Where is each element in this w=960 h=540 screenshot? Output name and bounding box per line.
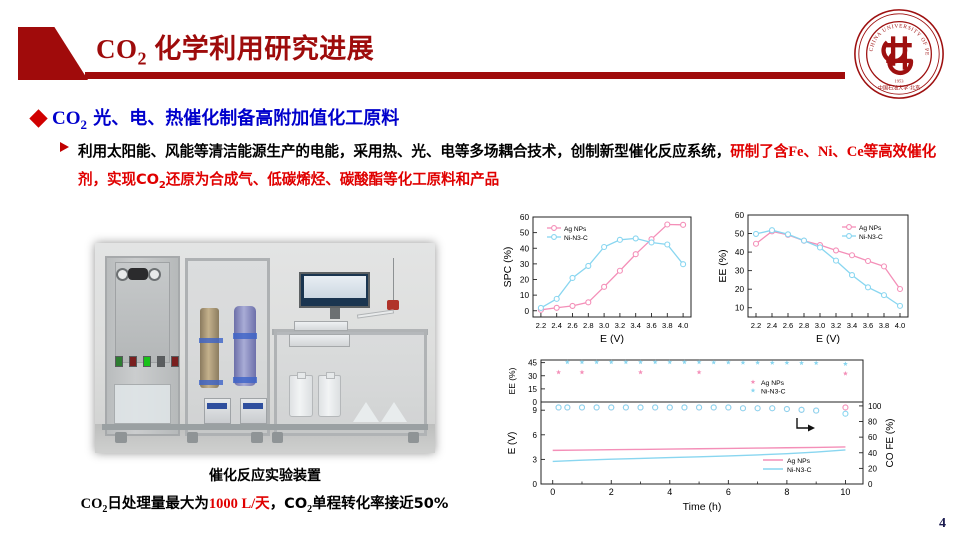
svg-text:2.4: 2.4 [767, 321, 778, 330]
svg-text:3.6: 3.6 [863, 321, 874, 330]
svg-text:中国石油大学·北京: 中国石油大学·北京 [878, 84, 920, 91]
svg-text:0: 0 [533, 480, 538, 489]
subcaption-co2: CO [81, 496, 103, 512]
subcaption-highlight: 1000 L/天 [209, 496, 270, 512]
chart-ee-vs-voltage: 2.22.42.62.83.03.23.43.63.84.01020304050… [712, 205, 932, 355]
bullet-level1-lead: CO [52, 108, 81, 129]
subcaption-c: ，CO [270, 496, 307, 512]
svg-text:30: 30 [735, 267, 745, 276]
bullet-level2-seg2-red: 研制了含 [730, 143, 788, 160]
svg-text:80: 80 [868, 418, 877, 427]
bullet-level2-seg1: 利用太阳能、风能等清洁能源生产的电能，采用热、光、电等多场耦合技术，创制新型催化… [78, 143, 730, 160]
svg-text:50: 50 [520, 229, 530, 238]
svg-text:Ag NPs: Ag NPs [761, 380, 785, 387]
svg-text:2.2: 2.2 [751, 321, 762, 330]
svg-text:60: 60 [520, 213, 530, 222]
chart-spc-vs-voltage: 2.22.42.62.83.03.23.43.63.84.00102030405… [495, 205, 705, 355]
bullet-level2-text: 利用太阳能、风能等清洁能源生产的电能，采用热、光、电等多场耦合技术，创制新型催化… [78, 138, 940, 199]
chart-stability-time-series: 024681001530450369020406080100Time (h)EE… [495, 352, 940, 524]
svg-text:4.0: 4.0 [678, 321, 689, 330]
apparatus-photo-frame [95, 243, 435, 453]
svg-text:E (V): E (V) [600, 333, 624, 345]
page-title-lead: CO [96, 34, 138, 64]
svg-text:20: 20 [520, 276, 530, 285]
svg-text:10: 10 [520, 291, 530, 300]
svg-text:100: 100 [868, 402, 882, 411]
svg-text:Ag NPs: Ag NPs [859, 225, 882, 232]
photo-caption: 催化反应实验装置 [95, 465, 435, 485]
diamond-bullet-icon [29, 109, 47, 127]
svg-text:4.0: 4.0 [895, 321, 906, 330]
svg-text:Ni-N3-C: Ni-N3-C [761, 389, 786, 396]
header-accent-shape [18, 27, 88, 80]
svg-text:CO FE (%): CO FE (%) [885, 419, 896, 468]
svg-text:0: 0 [868, 480, 873, 489]
svg-text:Ni-N3-C: Ni-N3-C [859, 234, 883, 241]
bullet-level2-seg2-c: 还原为合成气、低碳烯烃、碳酸酯等化工原料和产品 [166, 171, 499, 188]
subcaption-d: 单程转化率接近50% [312, 496, 448, 512]
svg-text:40: 40 [868, 449, 877, 458]
slide-root: CO2 化学利用研究进展 CHINA UNIVERSITY OF PETROLE… [0, 0, 960, 540]
svg-text:20: 20 [735, 285, 745, 294]
svg-text:2.6: 2.6 [783, 321, 794, 330]
svg-text:20: 20 [868, 464, 877, 473]
header-divider [85, 72, 845, 79]
svg-text:3: 3 [533, 455, 538, 464]
svg-text:Time (h): Time (h) [683, 501, 722, 513]
bullet-level2: 利用太阳能、风能等清洁能源生产的电能，采用热、光、电等多场耦合技术，创制新型催化… [60, 138, 940, 199]
svg-text:EE (%): EE (%) [717, 249, 729, 282]
svg-text:50: 50 [735, 230, 745, 239]
svg-text:E (V): E (V) [507, 432, 518, 455]
bullet-level1-body: 光、电、热催化制备高附加值化工原料 [87, 108, 399, 129]
svg-text:2: 2 [609, 487, 614, 497]
svg-text:E (V): E (V) [816, 333, 840, 345]
svg-text:10: 10 [840, 487, 850, 497]
svg-text:3.6: 3.6 [646, 321, 657, 330]
svg-text:EE (%): EE (%) [507, 367, 517, 394]
svg-text:3.0: 3.0 [599, 321, 610, 330]
bullet-level1: CO2 光、电、热催化制备高附加值化工原料 [32, 104, 399, 133]
bullet-level1-text: CO2 光、电、热催化制备高附加值化工原料 [52, 104, 399, 133]
page-title-subscript: 2 [138, 48, 148, 68]
catalytic-reaction-experimental-apparatus-photo [95, 243, 435, 453]
subcaption-b: 日处理量最大为 [107, 496, 209, 512]
university-logo-icon: CHINA UNIVERSITY OF PETROLEUM 1953 中国石油大… [850, 5, 948, 103]
bullet-level2-seg2-subscript: 2 [159, 180, 166, 191]
photo-subcaption: CO2日处理量最大为1000 L/天，CO2单程转化率接近50% [22, 492, 507, 515]
svg-text:Ag NPs: Ag NPs [787, 458, 811, 465]
svg-text:8: 8 [784, 487, 789, 497]
svg-text:3.2: 3.2 [831, 321, 842, 330]
svg-text:9: 9 [533, 406, 538, 415]
svg-text:1953: 1953 [895, 78, 905, 83]
triangle-bullet-icon [60, 142, 69, 152]
svg-text:30: 30 [520, 260, 530, 269]
svg-text:SPC (%): SPC (%) [502, 247, 514, 288]
svg-text:40: 40 [735, 248, 745, 257]
svg-text:4: 4 [667, 487, 672, 497]
page-number: 4 [939, 516, 946, 532]
svg-text:3.4: 3.4 [630, 321, 641, 330]
svg-text:3.0: 3.0 [815, 321, 826, 330]
svg-text:2.8: 2.8 [799, 321, 810, 330]
page-title: CO2 化学利用研究进展 [96, 27, 374, 69]
svg-text:3.8: 3.8 [662, 321, 673, 330]
svg-text:6: 6 [726, 487, 731, 497]
svg-text:3.8: 3.8 [879, 321, 890, 330]
svg-text:Ni-N3-C: Ni-N3-C [564, 235, 588, 242]
svg-text:Ag NPs: Ag NPs [564, 226, 587, 233]
svg-text:15: 15 [528, 385, 537, 394]
svg-text:2.6: 2.6 [567, 321, 578, 330]
svg-text:30: 30 [528, 372, 537, 381]
svg-text:10: 10 [735, 304, 745, 313]
bullet-level2-seg2-latin: Fe、Ni、Ce [788, 144, 863, 160]
svg-text:40: 40 [520, 244, 530, 253]
svg-text:0: 0 [524, 307, 529, 316]
svg-text:2.8: 2.8 [583, 321, 594, 330]
page-title-rest: 化学利用研究进展 [147, 34, 374, 64]
svg-text:2.2: 2.2 [536, 321, 547, 330]
svg-text:0: 0 [550, 487, 555, 497]
svg-text:6: 6 [533, 431, 538, 440]
svg-text:60: 60 [735, 211, 745, 220]
svg-text:60: 60 [868, 433, 877, 442]
svg-text:Ni-N3-C: Ni-N3-C [787, 467, 812, 474]
svg-text:3.2: 3.2 [615, 321, 626, 330]
svg-text:3.4: 3.4 [847, 321, 858, 330]
svg-text:2.4: 2.4 [551, 321, 562, 330]
svg-text:45: 45 [528, 359, 537, 368]
